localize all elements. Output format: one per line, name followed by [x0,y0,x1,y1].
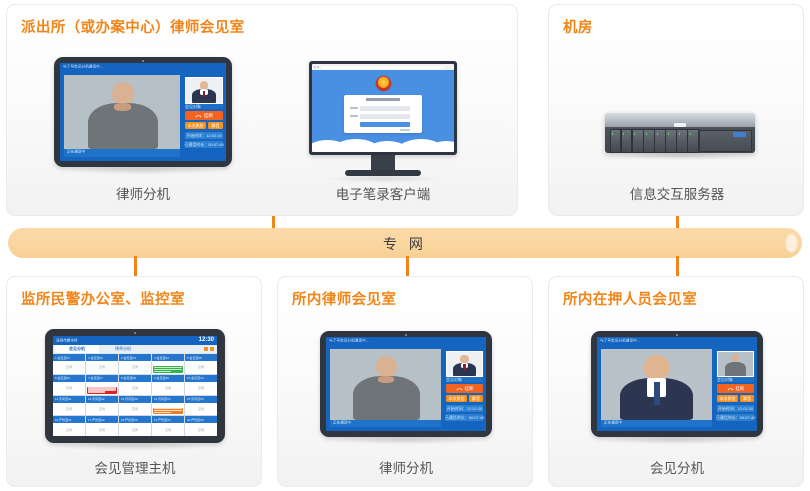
password-field[interactable] [360,114,410,119]
header-action-icons [204,347,214,351]
room-cell-status-box [153,366,182,373]
app-title: 深圳市看守所 [56,338,78,343]
tab-bar: 会见分机 律师分机 [53,345,217,353]
room-cell-body [152,361,184,374]
section-title: 监所民警办公室、监控室 [21,288,185,309]
room-cell-status-text: 空闲 [132,407,138,411]
mute-button[interactable]: 静音 [208,122,223,129]
monitor-screen-login [312,64,454,152]
room-cell-header: 3 会见室03 [119,354,151,361]
mute-button[interactable]: 静音 [740,395,754,402]
pip-name-label: 会见对象 [185,104,223,109]
tablet-camera-icon [676,334,678,336]
room-cell-name: 5 会见室05 [187,356,202,360]
room-cell[interactable]: 14 讯问室04 [152,396,184,416]
connector-bus-to-lawyer-room [406,256,409,276]
room-cell-status-text: 空闲 [99,428,105,432]
room-cell-status-text: 空闲 [66,407,72,411]
room-cell-header: 20 严管室05 [185,416,217,423]
device-shadow [65,165,221,175]
call-control-panel: 会见对象 挂断 本次抓拍 静音 开始时间：12:02 [443,349,486,431]
rack-server-graphic [605,113,755,153]
room-cell-body: 空闲 [119,361,151,374]
call-start-time-row: 开始时间：12:02:20 [185,132,223,139]
room-cell-header: 6 会见室06 [53,375,85,382]
room-cell-status-text: 空闲 [165,386,171,390]
fullscreen-icon[interactable] [210,347,214,351]
room-cell-header: 9 会见室09 [152,375,184,382]
room-cell[interactable]: 11 讯问室01空闲 [53,396,85,416]
room-cell-header: 15 讯问室05 [185,396,217,403]
tablet-frame: 与了号会见分机通话中... 正在通话中 [54,57,232,167]
room-cell-name: 10 会见室10 [187,376,204,380]
person-inmate-image [330,349,441,420]
call-control-panel: 会见对象 挂断 本次抓拍 静音 开始时间：12:02 [182,75,226,161]
room-cell-header: 2 会见室02 [86,354,118,361]
tablet-frame: 与了号会见分机通话中... 正在通话中 [320,331,492,437]
tablet-screen-video-call: 与了号会见分机通话中... 正在通话中 [326,337,486,431]
clock-display: 12:30 [199,337,214,343]
call-status-text: 与了号会见分机通话中... [63,64,103,70]
call-status-text: 与了号会见分机通话中... [600,338,640,344]
room-cell-name: 11 讯问室01 [55,397,71,401]
room-cell[interactable]: 13 讯问室03空闲 [119,396,151,416]
room-cell-name: 4 会见室04 [154,356,169,360]
device-shadow [330,435,482,445]
call-duration-label: 已通话时长： [445,415,469,421]
username-field[interactable] [360,106,410,111]
cloud-decoration [312,129,454,152]
browser-toolbar [312,64,454,70]
room-cell-body: 空闲 [119,403,151,416]
call-start-time-value: 12:02:20 [206,133,222,138]
login-title [344,98,422,101]
call-start-time-row: 开始时间：12:02:20 [717,405,754,412]
login-submit-button[interactable] [360,122,410,127]
room-cell-header: 13 讯问室03 [119,396,151,403]
tablet-frame: 深圳市看守所 12:30 会见分机 律师分机 1 会见室01空闲2 会见室 [45,329,225,443]
device-shadow [613,151,747,160]
device-caption: 会见管理主机 [21,457,249,477]
remote-video [601,349,712,420]
private-network-bus: 专 网 [8,228,802,258]
room-cell-status-text: 空闲 [66,386,72,390]
browser-address-bar[interactable] [321,66,444,69]
device-shadow [55,441,215,451]
server-brand-logo [733,132,747,136]
room-cell[interactable]: 12 讯问室02空闲 [86,396,118,416]
room-cell-name: 7 会见室07 [88,376,103,380]
call-start-time-label: 开始时间： [186,133,206,139]
section-card-police-station: 派出所（或办案中心）律师会见室 与了号会见分机通话中... [6,4,518,216]
section-card-internal-lawyer-room: 所内律师会见室 与了号会见分机通话中... [277,276,533,487]
room-cell-header: 12 讯问室02 [86,396,118,403]
room-cell-status-text: 空闲 [99,365,105,369]
room-cell-header: 5 会见室05 [185,354,217,361]
call-footer-strip: 正在通话中 [330,420,441,427]
room-cell[interactable]: 19 严管室04空闲 [152,416,184,436]
room-cell-header: 16 严管室01 [53,416,85,423]
room-cell-header: 19 严管室04 [152,416,184,423]
app-header-bar: 深圳市看守所 12:30 [53,336,217,345]
device-caption: 会见分机 [563,457,791,477]
tablet-screen-video-call: 与了号会见分机通话中... 正在通话中 [597,337,757,431]
phone-icon [456,387,463,391]
room-cell-header: 8 会见室08 [119,375,151,382]
room-cell-status-box [87,387,116,394]
snapshot-button[interactable]: 本次抓拍 [185,122,206,129]
call-duration-value: 00:07:40 [208,142,224,147]
room-cell-name: 6 会见室06 [55,376,70,380]
room-cell-status-text: 空闲 [66,365,72,369]
device-lawyer-extension-top: 与了号会见分机通话中... 正在通话中 [43,57,243,205]
person-lawyer-image [447,352,482,376]
room-cell-status-text: 空闲 [165,428,171,432]
room-cell-body: 空闲 [185,382,217,395]
connector-bus-to-monitoring-room [134,256,137,276]
pip-name-label: 会见对象 [717,377,754,382]
call-duration-label: 已通话时长： [184,142,208,148]
room-cell-header: 4 会见室04 [152,354,184,361]
room-cell-name: 19 严管室04 [154,418,171,422]
section-title: 机房 [563,16,593,37]
device-caption: 律师分机 [292,457,520,477]
call-duration-value: 00:07:40 [469,415,485,420]
pip-name-label: 会见对象 [446,377,483,382]
call-start-time-value: 12:02:20 [738,406,754,411]
call-start-time-row: 开始时间：12:02:20 [446,405,483,412]
room-cell-body: 空闲 [119,382,151,395]
login-panel [344,95,422,133]
room-cell-name: 15 讯问室05 [187,397,204,401]
room-cell-status-text: 空闲 [132,386,138,390]
device-information-server: 信息交互服务器 [563,57,791,205]
person-lawyer-image [186,78,222,103]
device-caption: 信息交互服务器 [563,183,791,203]
local-video-thumbnail [446,351,483,377]
tablet-screen-video-call: 与了号会见分机通话中... 正在通话中 [60,63,226,161]
room-status-grid: 1 会见室01空闲2 会见室02空闲3 会见室03空闲4 会见室045 会见室0… [53,354,217,436]
room-cell[interactable]: 2 会见室02空闲 [86,354,118,374]
room-cell-status-text: 空闲 [66,428,72,432]
room-cell-name: 1 会见室01 [55,356,70,360]
local-video-thumbnail [185,77,223,104]
tablet-frame: 与了号会见分机通话中... 正在通话中 [591,331,763,437]
hangup-button[interactable]: 挂断 [185,111,223,120]
room-cell-name: 9 会见室09 [154,376,169,380]
room-cell-header: 18 严管室03 [119,416,151,423]
tablet-screen-grid-manager: 深圳市看守所 12:30 会见分机 律师分机 1 会见室01空闲2 会见室 [53,336,217,436]
device-caption: 电子笔录客户端 [283,183,483,203]
room-cell-status-box [153,408,182,415]
call-footer-strip: 正在通话中 [601,420,712,427]
call-footer-text: 正在通话中 [67,149,85,154]
architecture-diagram: 派出所（或办案中心）律师会见室 与了号会见分机通话中... [0,0,810,491]
room-cell-header: 14 讯问室04 [152,396,184,403]
person-lawyer-image [601,349,712,420]
snapshot-button[interactable]: 本次抓拍 [717,395,738,402]
room-cell-name: 8 会见室08 [121,376,136,380]
call-status-bar: 与了号会见分机通话中... [326,337,486,346]
room-cell-status-text: 空闲 [132,365,138,369]
bus-end-cap [785,233,798,253]
call-footer-strip: 正在通话中 [64,149,180,157]
room-cell-body: 空闲 [185,423,217,436]
room-cell-body: 空闲 [53,382,85,395]
phone-icon [727,387,734,391]
device-caption: 律师分机 [43,183,243,203]
room-cell-header: 7 会见室07 [86,375,118,382]
room-cell-body: 空闲 [185,361,217,374]
room-cell[interactable]: 4 会见室04 [152,354,184,374]
room-cell-body: 空闲 [152,423,184,436]
room-cell[interactable]: 17 严管室02空闲 [86,416,118,436]
call-duration-row: 已通话时长：00:07:40 [717,414,754,421]
device-lawyer-extension-bottom: 与了号会见分机通话中... 正在通话中 [292,329,520,479]
call-duration-row: 已通话时长：00:07:40 [446,414,483,421]
section-title: 派出所（或办案中心）律师会见室 [21,16,245,37]
room-cell-status-text: 空闲 [198,365,204,369]
room-cell-header: 10 会见室10 [185,375,217,382]
room-cell-status-text: 空闲 [132,428,138,432]
section-title: 所内在押人员会见室 [563,288,697,309]
snapshot-button[interactable]: 本次抓拍 [446,395,467,402]
device-meeting-management-host: 深圳市看守所 12:30 会见分机 律师分机 1 会见室01空闲2 会见室 [21,329,249,479]
section-card-server-room: 机房 信息交互服务器 [548,4,804,216]
room-cell-body: 空闲 [152,382,184,395]
room-cell-body: 空闲 [86,361,118,374]
private-network-label: 专 网 [8,234,802,254]
room-cell-header: 1 会见室01 [53,354,85,361]
person-inmate-image [64,75,180,149]
export-icon[interactable] [204,347,208,351]
mute-button[interactable]: 静音 [469,395,483,402]
hangup-button[interactable]: 挂断 [446,384,483,393]
section-card-detainee-room: 所内在押人员会见室 与了号会见分机通话中... [548,276,804,487]
monitor-frame [309,61,457,155]
call-duration-label: 已通话时长： [716,415,740,421]
room-cell[interactable]: 1 会见室01空闲 [53,354,85,374]
connector-bus-to-detainee-room [676,256,679,276]
room-cell-name: 17 严管室02 [88,418,105,422]
room-cell-body: 空闲 [53,361,85,374]
room-cell-body [152,403,184,416]
room-cell-body: 空闲 [53,423,85,436]
room-cell-name: 14 讯问室04 [154,397,171,401]
room-cell-name: 3 会见室03 [121,356,136,360]
tablet-camera-icon [134,332,136,334]
section-card-monitoring-room: 监所民警办公室、监控室 深圳市看守所 12:30 会见分机 律师分机 [6,276,262,487]
server-front-panel [605,127,755,153]
room-cell-header: 17 严管室02 [86,416,118,423]
room-cell-name: 2 会见室02 [88,356,103,360]
room-cell-name: 20 严管室05 [187,418,204,422]
room-cell-status-text: 空闲 [198,386,204,390]
remote-video [64,75,180,149]
tablet-camera-icon [142,60,144,62]
remote-video [330,349,441,420]
room-cell-status-text: 空闲 [198,428,204,432]
room-cell-body: 空闲 [119,423,151,436]
room-cell-name: 12 讯问室02 [88,397,105,401]
call-status-bar: 与了号会见分机通话中... [597,337,757,346]
room-cell[interactable]: 18 严管室03空闲 [119,416,151,436]
call-footer-text: 正在通话中 [604,420,622,425]
room-cell-body: 空闲 [185,403,217,416]
call-start-time-value: 12:02:20 [467,406,483,411]
room-cell[interactable]: 10 会见室10空闲 [185,375,217,395]
call-start-time-label: 开始时间： [718,406,738,412]
phone-icon [195,114,202,118]
room-cell-name: 13 讯问室03 [121,397,138,401]
call-start-time-label: 开始时间： [447,406,467,412]
call-footer-text: 正在通话中 [333,420,351,425]
call-status-bar: 与了号会见分机通话中... [60,63,226,72]
room-cell[interactable]: 6 会见室06空闲 [53,375,85,395]
tab-lawyer-extensions[interactable]: 律师分机 [101,345,145,353]
room-cell[interactable]: 5 会见室05空闲 [185,354,217,374]
call-duration-row: 已通话时长：00:07:40 [185,141,223,148]
section-title: 所内律师会见室 [292,288,396,309]
room-cell[interactable]: 3 会见室03空闲 [119,354,151,374]
room-cell-body [86,382,118,395]
room-cell[interactable]: 15 讯问室05空闲 [185,396,217,416]
device-record-client: 电子笔录客户端 [283,57,483,205]
room-cell-body: 空闲 [86,423,118,436]
room-cell-status-text: 空闲 [198,407,204,411]
room-cell[interactable]: 20 严管室05空闲 [185,416,217,436]
tablet-camera-icon [405,334,407,336]
local-video-thumbnail [717,351,754,377]
room-cell-body: 空闲 [53,403,85,416]
device-shadow [323,174,443,183]
hangup-button[interactable]: 挂断 [717,384,754,393]
call-status-text: 与了号会见分机通话中... [329,338,369,344]
hangup-label: 挂断 [736,386,745,392]
room-cell-header: 11 讯问室01 [53,396,85,403]
room-cell-name: 16 严管室01 [55,418,72,422]
hangup-label: 挂断 [204,113,213,119]
room-cell-name: 18 严管室03 [121,418,138,422]
call-duration-value: 00:07:40 [740,415,756,420]
room-cell[interactable]: 9 会见室09空闲 [152,375,184,395]
room-cell[interactable]: 7 会见室07 [86,375,118,395]
room-cell[interactable]: 16 严管室01空闲 [53,416,85,436]
call-control-panel: 会见对象 挂断 本次抓拍 静音 开始时间：12:02 [714,349,757,431]
hangup-label: 挂断 [465,386,474,392]
room-cell[interactable]: 8 会见室08空闲 [119,375,151,395]
police-emblem-icon [376,76,391,91]
room-cell-body: 空闲 [86,403,118,416]
person-inmate-image [718,352,753,376]
tab-meeting-extensions[interactable]: 会见分机 [55,345,99,353]
room-cell-status-text: 空闲 [99,407,105,411]
device-shadow [601,435,753,445]
device-meeting-extension: 与了号会见分机通话中... 正在通话中 [563,329,791,479]
